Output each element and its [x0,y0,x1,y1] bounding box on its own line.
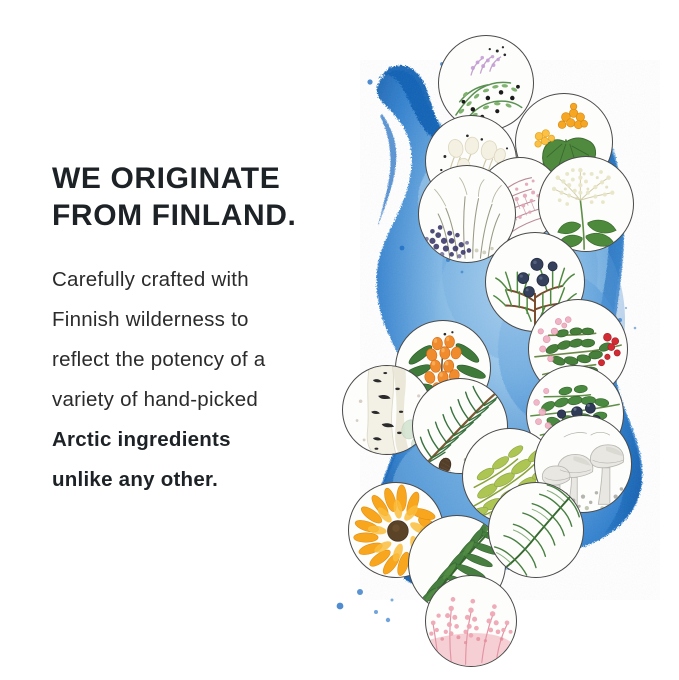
poster-canvas: WE ORIGINATE FROM FINLAND. Carefully cra… [0,0,679,679]
rosebay-icon [426,576,516,666]
finland-map [330,20,679,680]
ingredient-circle-rosebay-willowherb[interactable] [425,575,517,667]
body-line: Carefully crafted with [52,260,352,300]
crowberry-icon [439,36,533,130]
body-line-emphasis: unlike any other. [52,460,352,500]
body-copy: Carefully crafted with Finnish wildernes… [52,260,352,500]
ingredient-circle-pine-needle[interactable] [488,482,584,578]
pine-needle-icon [489,483,583,577]
body-line: reflect the potency of a [52,340,352,380]
page-title: WE ORIGINATE FROM FINLAND. [52,160,352,234]
body-line: variety of hand-picked [52,380,352,420]
body-line: Finnish wilderness to [52,300,352,340]
body-line-emphasis: Arctic ingredients [52,420,352,460]
text-panel: WE ORIGINATE FROM FINLAND. Carefully cra… [52,160,352,500]
